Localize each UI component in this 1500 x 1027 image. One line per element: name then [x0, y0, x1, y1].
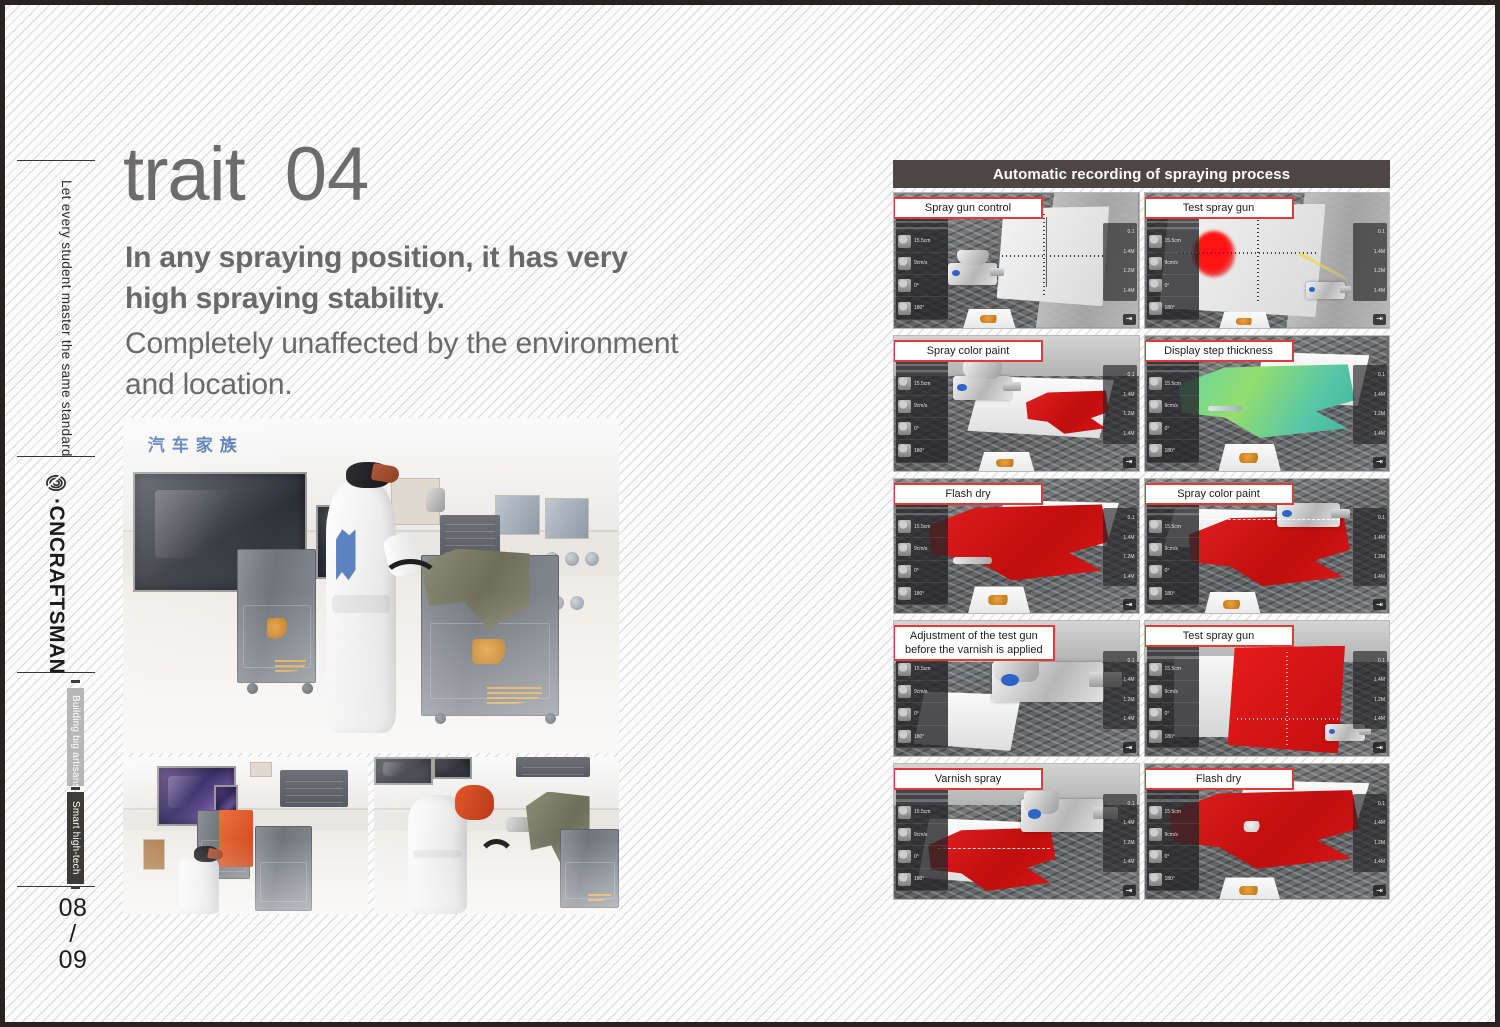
vr-cell-display-step-thickness[interactable]: 15.5cm 9cm/s 0° 180° 0.1 1.4M 1.2M 1.4M … — [1144, 335, 1391, 472]
wall-picture-1 — [250, 762, 272, 778]
cell-label: Spray color paint — [1144, 483, 1294, 505]
cell-label: Adjustment of the test gun before the va… — [893, 625, 1055, 661]
rotation-icon — [898, 302, 911, 315]
hud-right-panel: 0.1 1.4M 1.2M 1.4M — [1103, 365, 1137, 443]
spray-gun — [426, 488, 446, 511]
speed-icon — [1149, 828, 1162, 841]
distance-icon — [898, 377, 911, 390]
rotation-icon — [1149, 302, 1162, 315]
wall-chinese-title: 汽车家族 — [148, 431, 244, 456]
page-title: trait04 — [123, 136, 369, 214]
brand-name: ·CNCRAFTSMAN — [44, 498, 68, 674]
cell-label: Test spray gun — [1144, 625, 1294, 647]
exit-icon[interactable]: ⇥ — [1373, 314, 1386, 325]
distance-icon — [898, 520, 911, 533]
distance-icon — [898, 663, 911, 676]
wall-display-left — [374, 757, 433, 785]
brand-dot: · — [45, 498, 68, 506]
main-training-room-photo: 汽车家族 — [123, 418, 619, 753]
cell-label: Spray color paint — [893, 340, 1043, 362]
wall-picture-3 — [545, 498, 590, 538]
cell-label: Flash dry — [1144, 768, 1294, 790]
exit-icon[interactable]: ⇥ — [1373, 742, 1386, 753]
vr-cell-test-spray-gun-2[interactable]: 15.5cm 9cm/s 0° 180° 0.1 1.4M 1.2M 1.4M … — [1144, 620, 1391, 757]
speed-icon — [898, 828, 911, 841]
wall-display-small — [433, 757, 472, 779]
angle-icon — [898, 279, 911, 292]
floor-reflection — [123, 592, 619, 753]
rotation-icon — [1149, 587, 1162, 600]
sub-paragraph: Completely unaffected by the environment… — [125, 323, 685, 405]
vr-recording-panel: Automatic recording of spraying process … — [893, 160, 1390, 900]
speed-icon — [1149, 685, 1162, 698]
sidebar-divider-top — [17, 160, 95, 161]
speed-icon — [898, 257, 911, 270]
lead-paragraph: In any spraying position, it has very hi… — [125, 237, 685, 319]
wall-info-board — [280, 770, 349, 808]
hud-right-panel: 0.1 1.4M 1.2M 1.4M — [1103, 508, 1137, 586]
exit-icon[interactable]: ⇥ — [1123, 457, 1136, 468]
page-number: 08 / 09 — [45, 895, 101, 973]
hud-right-panel: 0.1 1.4M 1.2M 1.4M — [1353, 365, 1387, 443]
vr-screenshot-grid: 15.5cm 9cm/s 0° 180° 0.1 1.4M 1.2M 1.4M … — [893, 192, 1390, 900]
cell-label: Spray gun control — [893, 197, 1043, 219]
sidebar-divider-mid1 — [17, 456, 95, 457]
wall-picture-2 — [495, 495, 540, 535]
hud-right-panel: 0.1 1.4M 1.2M 1.4M — [1353, 508, 1387, 586]
rotation-icon — [898, 730, 911, 743]
vr-headset — [346, 462, 391, 489]
vr-cell-spray-gun-control[interactable]: 15.5cm 9cm/s 0° 180° 0.1 1.4M 1.2M 1.4M … — [893, 192, 1140, 329]
exit-icon[interactable]: ⇥ — [1373, 457, 1386, 468]
vr-panel-header: Automatic recording of spraying process — [893, 160, 1390, 188]
sidebar-slogan: Let every student master the same standa… — [59, 180, 74, 457]
cell-label: Test spray gun — [1144, 197, 1294, 219]
rotation-icon — [1149, 873, 1162, 886]
tag-cap-mid — [71, 787, 80, 790]
wall-info-board — [516, 757, 590, 777]
tag-cap-top — [71, 680, 80, 683]
rotation-icon — [1149, 444, 1162, 457]
angle-icon — [1149, 422, 1162, 435]
tag-smart-high-tech: Smart high-tech — [67, 792, 84, 884]
distance-icon — [1149, 235, 1162, 248]
brochure-page: Let every student master the same standa… — [0, 0, 1500, 1027]
rotation-icon — [898, 873, 911, 886]
vr-cell-flash-dry-1[interactable]: 15.5cm 9cm/s 0° 180° 0.1 1.4M 1.2M 1.4M … — [893, 478, 1140, 615]
distance-icon — [1149, 806, 1162, 819]
hud-right-panel: 0.1 1.4M 1.2M 1.4M — [1353, 794, 1387, 872]
hud-right-panel: 0.1 1.4M 1.2M 1.4M — [1103, 651, 1137, 729]
secondary-photo-left — [123, 757, 368, 914]
vr-cell-spray-color-paint-2[interactable]: 15.5cm 9cm/s 0° 180° 0.1 1.4M 1.2M 1.4M … — [1144, 478, 1391, 615]
trait-word: trait — [123, 132, 245, 217]
vr-cell-test-spray-gun-1[interactable]: 15.5cm 9cm/s 0° 180° 0.1 1.4M 1.2M 1.4M … — [1144, 192, 1391, 329]
angle-icon — [1149, 850, 1162, 863]
secondary-photo-right — [374, 757, 619, 914]
sidebar-divider-bottom — [17, 886, 95, 887]
rotation-icon — [898, 587, 911, 600]
cell-label: Flash dry — [893, 483, 1043, 505]
speed-icon — [898, 543, 911, 556]
rotation-icon — [1149, 730, 1162, 743]
angle-icon — [1149, 565, 1162, 578]
vr-cell-varnish-spray[interactable]: 15.5cm 9cm/s 0° 180° 0.1 1.4M 1.2M 1.4M … — [893, 763, 1140, 900]
brand-lockup: ·CNCRAFTSMAN — [43, 470, 69, 674]
hud-right-panel: 0.1 1.4M 1.2M 1.4M — [1103, 223, 1137, 301]
angle-icon — [898, 708, 911, 721]
distance-icon — [898, 806, 911, 819]
exit-icon[interactable]: ⇥ — [1373, 885, 1386, 896]
hud-right-panel: 0.1 1.4M 1.2M 1.4M — [1103, 794, 1137, 872]
rotation-icon — [898, 444, 911, 457]
brand-name-text: CNCRAFTSMAN — [45, 506, 68, 675]
exit-icon[interactable]: ⇥ — [1123, 314, 1136, 325]
angle-icon — [898, 850, 911, 863]
speed-icon — [898, 685, 911, 698]
distance-icon — [898, 235, 911, 248]
vr-cell-adjustment-test-gun[interactable]: 15.5cm 9cm/s 0° 180° 0.1 1.4M 1.2M 1.4M … — [893, 620, 1140, 757]
speed-icon — [1149, 543, 1162, 556]
vr-cell-spray-color-paint-1[interactable]: 15.5cm 9cm/s 0° 180° 0.1 1.4M 1.2M 1.4M … — [893, 335, 1140, 472]
cncraftsman-logo-icon — [43, 470, 69, 496]
exit-icon[interactable]: ⇥ — [1123, 742, 1136, 753]
speed-icon — [898, 400, 911, 413]
speed-icon — [1149, 400, 1162, 413]
angle-icon — [1149, 708, 1162, 721]
angle-icon — [898, 565, 911, 578]
exit-icon[interactable]: ⇥ — [1373, 599, 1386, 610]
floor-reflection — [123, 839, 368, 914]
distance-icon — [1149, 663, 1162, 676]
speed-icon — [1149, 257, 1162, 270]
cell-label: Varnish spray — [893, 768, 1043, 790]
vr-headset-orange — [455, 785, 494, 820]
exit-icon[interactable]: ⇥ — [1123, 885, 1136, 896]
hud-right-panel: 0.1 1.4M 1.2M 1.4M — [1353, 651, 1387, 729]
tag-cap-bottom — [71, 886, 80, 889]
distance-icon — [1149, 377, 1162, 390]
left-sidebar: Let every student master the same standa… — [15, 160, 103, 968]
exit-icon[interactable]: ⇥ — [1123, 599, 1136, 610]
angle-icon — [898, 422, 911, 435]
tag-building-big-artisans: Building big artisans — [67, 688, 84, 786]
cell-label: Display step thickness — [1144, 340, 1294, 362]
vr-cell-flash-dry-2[interactable]: 15.5cm 9cm/s 0° 180° 0.1 1.4M 1.2M 1.4M … — [1144, 763, 1391, 900]
trait-number: 04 — [285, 132, 370, 217]
angle-icon — [1149, 279, 1162, 292]
distance-icon — [1149, 520, 1162, 533]
wall-display-violet-small — [214, 785, 239, 813]
floor-reflection — [374, 839, 619, 914]
hud-right-panel: 0.1 1.4M 1.2M 1.4M — [1353, 223, 1387, 301]
